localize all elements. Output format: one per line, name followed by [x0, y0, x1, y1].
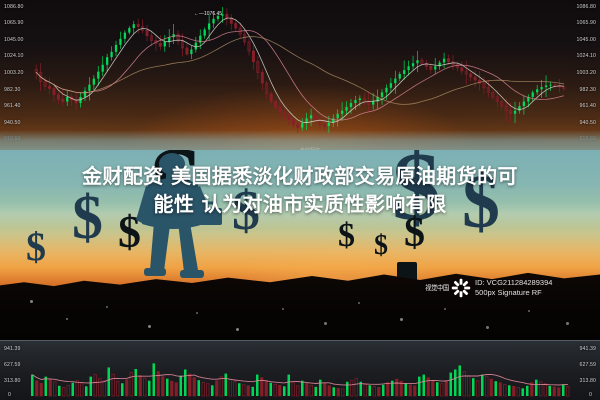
- bokeh-particle: [66, 318, 68, 320]
- volume-axis-left-tick: 627.59: [4, 362, 20, 368]
- bokeh-particle: [400, 318, 403, 321]
- vcg-logo: 视觉中国: [424, 278, 471, 298]
- bokeh-particle: [486, 326, 489, 329]
- price-axis-left-tick: 1045.00: [4, 37, 23, 43]
- price-axis-left-tick: 940.50: [4, 120, 20, 126]
- peak-annotation-value: 1076.45: [204, 11, 222, 17]
- dollar-sign-silhouette: $: [374, 234, 388, 258]
- bokeh-particle: [528, 310, 530, 312]
- dollar-sign-silhouette: $: [26, 230, 46, 264]
- price-axis-left-tick: 961.40: [4, 103, 20, 109]
- volume-chart-canvas: [0, 340, 600, 400]
- volume-axis-right-tick: 627.59: [580, 362, 596, 368]
- price-axis-left-tick: 1003.20: [4, 70, 23, 76]
- bokeh-particle: [30, 300, 33, 303]
- headline-text: 金财配资 美国据悉淡化财政部交易原油期货的可 能性 认为对油市实质性影响有限: [0, 162, 600, 219]
- price-chart-panel: 1086.80 1065.90 1045.00 1024.10 1003.20 …: [0, 0, 600, 160]
- bokeh-particle: [196, 312, 198, 314]
- price-axis-right-tick: 1045.00: [577, 37, 596, 43]
- price-axis-left-tick: 1024.10: [4, 53, 23, 59]
- bokeh-particle: [148, 325, 151, 328]
- bokeh-particle: [236, 328, 239, 331]
- price-axis-left-tick: 982.30: [4, 87, 20, 93]
- price-axis-right-tick: 1003.20: [577, 70, 596, 76]
- bokeh-particle: [324, 322, 327, 325]
- headline-line-1: 金财配资 美国据悉淡化财政部交易原油期货的可: [0, 162, 600, 190]
- price-axis-right-tick: 961.40: [580, 103, 596, 109]
- watermark-id: ID: VCG211284289394: [475, 278, 552, 288]
- starburst-icon: [451, 278, 471, 298]
- watermark: 视觉中国 ID: VCG211284289394 500px Signature…: [424, 278, 552, 298]
- headline-line-2: 能性 认为对油市实质性影响有限: [0, 190, 600, 218]
- bokeh-particle: [566, 322, 569, 325]
- volume-axis-left-tick: 313.80: [4, 378, 20, 384]
- bokeh-particle: [282, 308, 284, 310]
- price-axis-right-tick: 1065.90: [577, 20, 596, 26]
- volume-axis-left-tick: 0: [8, 392, 11, 398]
- vcg-logo-label: 视觉中国: [425, 283, 448, 293]
- volume-axis-right-tick: 313.80: [580, 378, 596, 384]
- price-axis-left-tick: 1086.80: [4, 4, 23, 10]
- peak-annotation: ←—1076.45: [194, 11, 222, 17]
- volume-chart-panel: 941.39 627.59 313.80 0 941.39 627.59 313…: [0, 340, 600, 400]
- volume-axis-right-tick: 0: [589, 392, 592, 398]
- volume-axis-left-tick: 941.39: [4, 346, 20, 352]
- bokeh-particle: [106, 306, 108, 308]
- watermark-license: 500px Signature RF: [475, 288, 552, 298]
- volume-axis-right-tick: 941.39: [580, 346, 596, 352]
- price-axis-right-tick: 1086.80: [577, 4, 596, 10]
- price-axis-right-tick: 940.50: [580, 120, 596, 126]
- bokeh-particle: [444, 308, 446, 310]
- bokeh-particle: [358, 302, 360, 304]
- price-axis-right-tick: 1024.10: [577, 53, 596, 59]
- price-axis-right-tick: 982.30: [580, 87, 596, 93]
- dollar-sign-silhouette: $: [338, 222, 355, 251]
- news-image-card: 1086.80 1065.90 1045.00 1024.10 1003.20 …: [0, 0, 600, 400]
- price-axis-left-tick: 1065.90: [4, 20, 23, 26]
- watermark-text: ID: VCG211284289394 500px Signature RF: [475, 278, 552, 298]
- dollar-sign-silhouette: $: [404, 216, 425, 252]
